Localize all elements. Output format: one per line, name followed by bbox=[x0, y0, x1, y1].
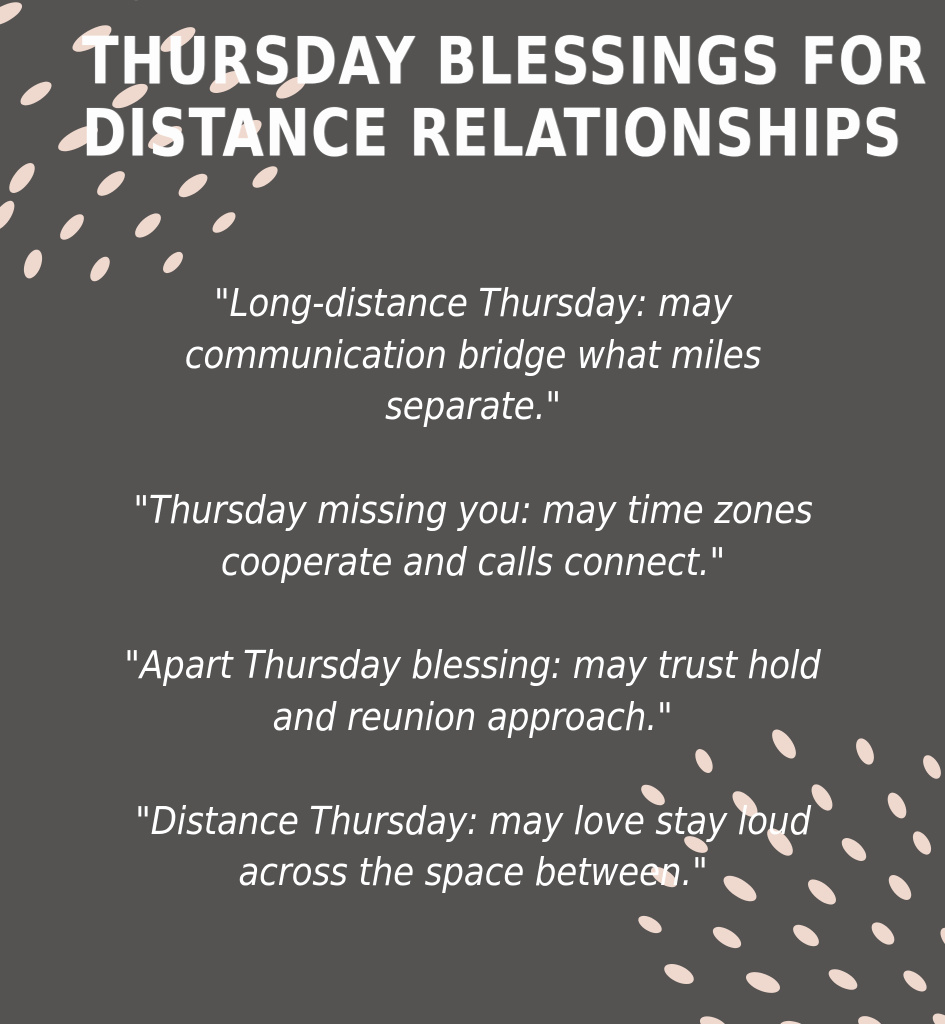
quote-item-4: "Distance Thursday: may love stay loud a… bbox=[117, 796, 828, 899]
dash-mark bbox=[900, 967, 930, 996]
dash-mark bbox=[635, 912, 664, 936]
dash-mark bbox=[20, 247, 45, 281]
title-line-1: Thursday Blessings for Long- bbox=[82, 24, 863, 98]
dash-mark bbox=[929, 1010, 945, 1024]
dash-mark bbox=[56, 210, 88, 243]
dash-mark bbox=[93, 167, 129, 200]
quote-list: "Long-distance Thursday: may communicati… bbox=[0, 278, 945, 899]
dash-mark bbox=[825, 965, 860, 994]
dash-mark bbox=[855, 1012, 887, 1024]
page-title: Thursday Blessings for Long- Distance Re… bbox=[0, 24, 945, 162]
dash-mark bbox=[175, 169, 211, 201]
dash-mark bbox=[789, 921, 822, 951]
dash-mark bbox=[127, 0, 170, 5]
dash-mark bbox=[709, 923, 744, 953]
quote-item-1: "Long-distance Thursday: may communicati… bbox=[95, 278, 851, 433]
quote-item-3: "Apart Thursday blessing: may trust hold… bbox=[90, 640, 854, 743]
dash-mark bbox=[209, 209, 239, 237]
dash-mark bbox=[0, 197, 19, 234]
dash-mark bbox=[937, 924, 945, 953]
dash-mark bbox=[743, 968, 783, 997]
dash-mark bbox=[777, 1017, 812, 1024]
dash-mark bbox=[697, 1013, 731, 1024]
dash-mark bbox=[131, 209, 165, 242]
dash-mark bbox=[661, 960, 697, 988]
dash-mark bbox=[159, 248, 186, 276]
poster-canvas: Thursday Blessings for Long- Distance Re… bbox=[0, 0, 945, 1024]
dash-mark bbox=[5, 159, 40, 197]
title-line-2: Distance Relationships bbox=[82, 96, 863, 170]
dash-mark bbox=[868, 918, 899, 948]
quote-item-2: "Thursday missing you: may time zones co… bbox=[131, 485, 815, 588]
